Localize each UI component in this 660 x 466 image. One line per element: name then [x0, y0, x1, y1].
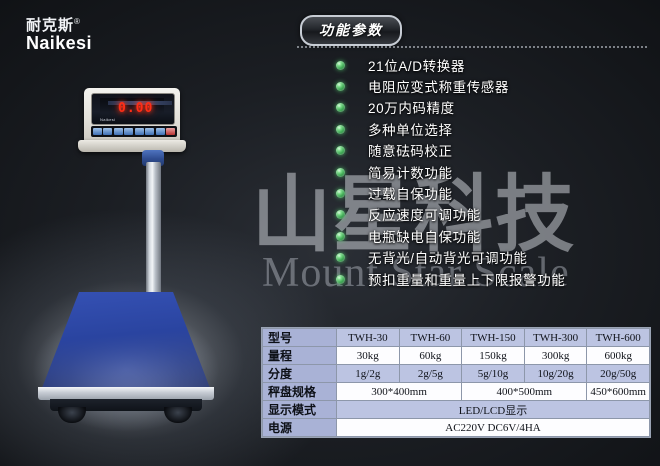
feature-item-label: 反应速度可调功能: [368, 204, 481, 224]
specification-table: 型号TWH-30TWH-60TWH-150TWH-300TWH-600量程30k…: [262, 328, 650, 437]
table-cell-merged: LED/LCD显示: [337, 401, 650, 419]
weighing-platform: [22, 288, 230, 438]
table-cell: 30kg: [337, 347, 400, 365]
keypad-key-power[interactable]: [166, 128, 175, 135]
table-cell: TWH-60: [399, 329, 462, 347]
section-title-badge: 功能参数: [300, 15, 402, 46]
feature-item: 电瓶缺电自保功能: [336, 225, 646, 246]
table-cell: 60kg: [399, 347, 462, 365]
table-cell: 600kg: [587, 347, 650, 365]
feature-item: 多种单位选择: [336, 118, 646, 139]
keypad-key[interactable]: [124, 128, 133, 135]
bullet-icon: [336, 253, 345, 262]
table-row-label: 电源: [263, 419, 337, 437]
bullet-icon: [336, 168, 345, 177]
table-cell: TWH-30: [337, 329, 400, 347]
table-cell-merged: 450*600mm: [587, 383, 650, 401]
keypad-key[interactable]: [114, 128, 123, 135]
indicator-base: [78, 140, 186, 152]
table-cell: 300kg: [524, 347, 587, 365]
product-image-platform-scale: 0.00 Naikesi: [0, 70, 250, 466]
feature-item: 预扣重量和重量上下限报警功能: [336, 268, 646, 289]
bullet-icon: [336, 146, 345, 155]
table-cell: 1g/2g: [337, 365, 400, 383]
table-row: 电源AC220V DC6V/4HA: [263, 419, 650, 437]
feature-item-label: 随意砝码校正: [368, 140, 453, 160]
feature-item-label: 21位A/D转换器: [368, 55, 465, 75]
page-title: 功能参数: [319, 22, 383, 38]
table-row-label: 分度: [263, 365, 337, 383]
keypad-key[interactable]: [135, 128, 144, 135]
feature-item: 20万内码精度: [336, 97, 646, 118]
table-cell: 5g/10g: [462, 365, 525, 383]
table-row: 量程30kg60kg150kg300kg600kg: [263, 347, 650, 365]
feature-item-label: 多种单位选择: [368, 119, 453, 139]
feature-list: 21位A/D转换器电阻应变式称重传感器20万内码精度多种单位选择随意砝码校正简易…: [336, 54, 646, 289]
table-row-label: 显示模式: [263, 401, 337, 419]
keypad-key[interactable]: [145, 128, 154, 135]
table-cell: TWH-150: [462, 329, 525, 347]
table-row-label: 型号: [263, 329, 337, 347]
feature-item-label: 电瓶缺电自保功能: [368, 226, 481, 246]
table-cell-merged: 400*500mm: [462, 383, 587, 401]
table-cell: 20g/50g: [587, 365, 650, 383]
feature-item: 反应速度可调功能: [336, 204, 646, 225]
table-cell: TWH-600: [587, 329, 650, 347]
feature-item-label: 电阻应变式称重传感器: [368, 76, 509, 96]
feature-item: 21位A/D转换器: [336, 54, 646, 75]
weight-readout: 0.00: [118, 102, 153, 115]
brand-name-cn: 耐克斯®: [26, 18, 136, 33]
bullet-icon: [336, 275, 345, 284]
brand-logo: 耐克斯® Naikesi: [26, 18, 136, 54]
table-row-label: 量程: [263, 347, 337, 365]
keypad-key[interactable]: [103, 128, 112, 135]
bullet-icon: [336, 232, 345, 241]
feature-item-label: 预扣重量和重量上下限报警功能: [368, 269, 565, 289]
keypad-key[interactable]: [156, 128, 165, 135]
keypad[interactable]: [91, 126, 177, 137]
table-row: 分度1g/2g2g/5g5g/10g10g/20g20g/50g: [263, 365, 650, 383]
table-row: 秤盘规格300*400mm400*500mm450*600mm: [263, 383, 650, 401]
indicator-display-panel: 0.00 Naikesi: [91, 93, 175, 125]
brand-name-en: Naikesi: [26, 33, 136, 54]
bullet-icon: [336, 103, 345, 112]
feature-item-label: 20万内码精度: [368, 97, 455, 117]
feature-item-label: 简易计数功能: [368, 162, 453, 182]
table-cell: 2g/5g: [399, 365, 462, 383]
indicator-brand-label: Naikesi: [100, 117, 115, 122]
bullet-icon: [336, 61, 345, 70]
table-cell-merged: 300*400mm: [337, 383, 462, 401]
bullet-icon: [336, 189, 345, 198]
feature-item-label: 无背光/自动背光可调功能: [368, 247, 527, 267]
table-cell: 150kg: [462, 347, 525, 365]
table-cell: 10g/20g: [524, 365, 587, 383]
table-row-label: 秤盘规格: [263, 383, 337, 401]
feature-item: 无背光/自动背光可调功能: [336, 247, 646, 268]
feature-item: 电阻应变式称重传感器: [336, 75, 646, 96]
feature-item: 随意砝码校正: [336, 140, 646, 161]
registered-trademark-icon: ®: [74, 17, 81, 26]
indicator-head: 0.00 Naikesi: [84, 88, 180, 144]
bullet-icon: [336, 210, 345, 219]
product-spec-poster: 耐克斯® Naikesi 功能参数 山星科技 Mount Star Scale …: [0, 0, 660, 466]
table-cell-merged: AC220V DC6V/4HA: [337, 419, 650, 437]
specification-table-body: 型号TWH-30TWH-60TWH-150TWH-300TWH-600量程30k…: [263, 329, 650, 437]
table-row: 型号TWH-30TWH-60TWH-150TWH-300TWH-600: [263, 329, 650, 347]
feature-item: 过载自保功能: [336, 182, 646, 203]
feature-item: 简易计数功能: [336, 161, 646, 182]
bullet-icon: [336, 125, 345, 134]
bullet-icon: [336, 82, 345, 91]
table-row: 显示模式LED/LCD显示: [263, 401, 650, 419]
dotted-divider: [296, 46, 648, 48]
keypad-key[interactable]: [93, 128, 102, 135]
table-cell: TWH-300: [524, 329, 587, 347]
feature-item-label: 过载自保功能: [368, 183, 453, 203]
